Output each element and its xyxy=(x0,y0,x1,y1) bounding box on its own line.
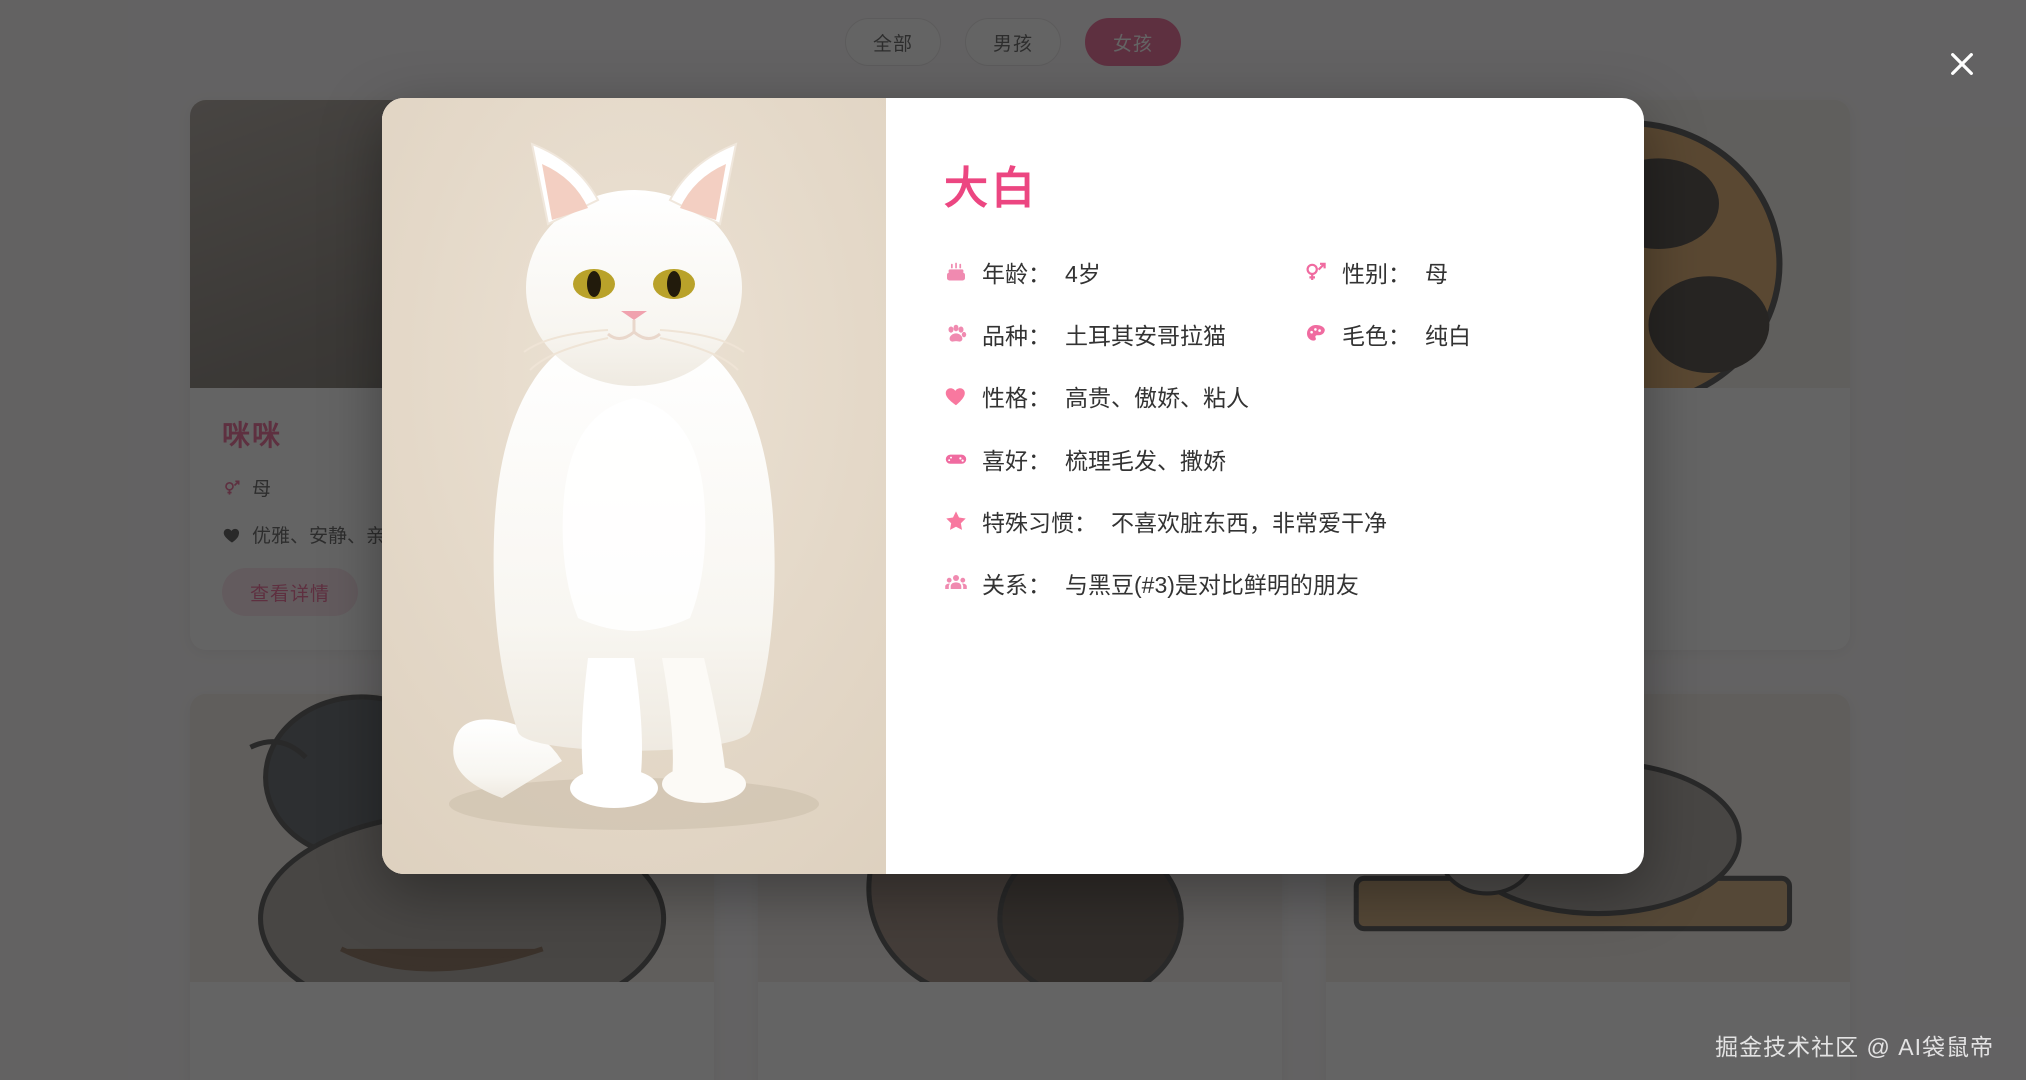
attr-age: 年龄： 4岁 xyxy=(944,258,1304,290)
attr-personality-value: 高贵、傲娇、粘人 xyxy=(1065,382,1249,414)
attr-gender-value: 母 xyxy=(1425,258,1448,290)
modal-pet-photo xyxy=(382,98,886,874)
attr-coat-label: 毛色： xyxy=(1342,320,1411,352)
attr-hobby-value: 梳理毛发、撒娇 xyxy=(1065,445,1226,477)
watermark: 掘金技术社区 @ AI袋鼠帝 xyxy=(1715,1028,1994,1062)
attr-breed: 品种： 土耳其安哥拉猫 xyxy=(944,320,1304,352)
attr-breed-value: 土耳其安哥拉猫 xyxy=(1065,320,1226,352)
attr-age-value: 4岁 xyxy=(1065,258,1101,290)
heart-icon xyxy=(944,384,968,408)
attr-personality: 性格： 高贵、傲娇、粘人 xyxy=(944,382,1586,414)
attr-breed-label: 品种： xyxy=(982,320,1051,352)
attr-hobby: 喜好： 梳理毛发、撒娇 xyxy=(944,445,1586,477)
palette-icon xyxy=(1304,322,1328,346)
attr-habit-label: 特殊习惯： xyxy=(982,507,1097,539)
attr-age-label: 年龄： xyxy=(982,258,1051,290)
attr-gender: 性别： 母 xyxy=(1304,258,1586,290)
people-icon xyxy=(944,571,968,595)
attr-gender-label: 性别： xyxy=(1342,258,1411,290)
star-icon xyxy=(944,509,968,533)
close-icon[interactable] xyxy=(1940,42,1984,86)
page-title: 大白 xyxy=(944,152,1586,216)
attr-relation-label: 关系： xyxy=(982,569,1051,601)
attr-personality-label: 性格： xyxy=(982,382,1051,414)
paw-icon xyxy=(944,322,968,346)
attr-relation: 关系： 与黑豆(#3)是对比鲜明的朋友 xyxy=(944,569,1586,601)
attr-relation-value: 与黑豆(#3)是对比鲜明的朋友 xyxy=(1065,569,1359,601)
attr-habit: 特殊习惯： 不喜欢脏东西，非常爱干净 xyxy=(944,507,1586,539)
app-root: 全部 男孩 女孩 咪咪 xyxy=(0,0,2026,1080)
attr-habit-value: 不喜欢脏东西，非常爱干净 xyxy=(1111,507,1387,539)
white-cat-illustration xyxy=(382,98,886,874)
attr-coat: 毛色： 纯白 xyxy=(1304,320,1586,352)
modal-info-panel: 大白 年龄： 4岁 xyxy=(886,98,1644,874)
gender-icon xyxy=(1304,260,1328,284)
pet-attributes: 年龄： 4岁 性别： 母 xyxy=(944,258,1586,631)
attr-coat-value: 纯白 xyxy=(1425,320,1471,352)
gamepad-icon xyxy=(944,447,968,471)
attr-hobby-label: 喜好： xyxy=(982,445,1051,477)
cake-icon xyxy=(944,260,968,284)
pet-detail-modal: 大白 年龄： 4岁 xyxy=(382,98,1644,874)
